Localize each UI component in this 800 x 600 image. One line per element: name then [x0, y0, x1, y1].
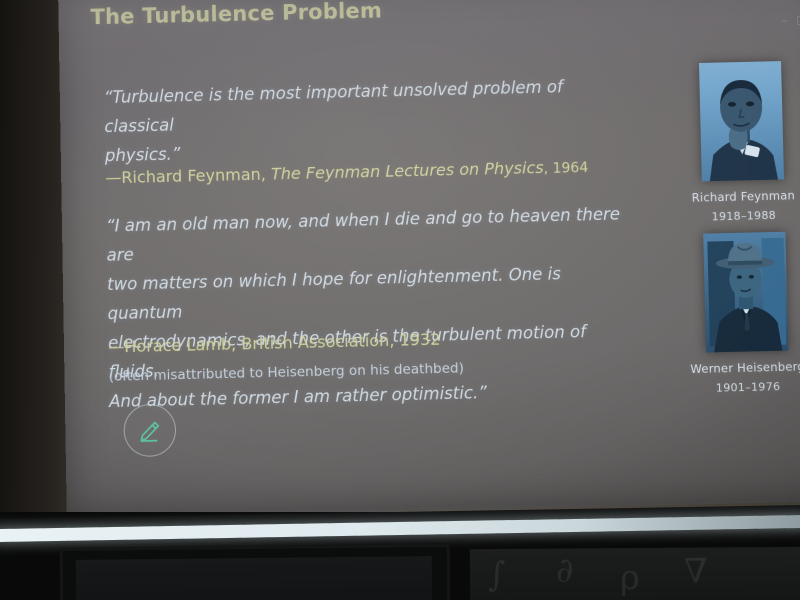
projection-screen: The Turbulence Problem “Turbulence is th… [58, 0, 800, 519]
portrait-card-feynman: Richard Feynman 1918–1988 [660, 60, 800, 224]
chalk-smudge: ∫ [488, 555, 506, 595]
slide-content: The Turbulence Problem “Turbulence is th… [58, 0, 800, 519]
chalk-smudge: ∂ [556, 550, 574, 590]
window-pane [76, 556, 433, 600]
attribution-year: , 1964 [543, 160, 588, 177]
window-controls[interactable]: – □ × [782, 14, 800, 26]
projection-screen-wrap: The Turbulence Problem “Turbulence is th… [0, 0, 800, 520]
room-below-screen: ∫ ∂ ρ ∇ [0, 512, 800, 600]
portrait-name: Richard Feynman [663, 188, 800, 206]
blackboard: ∫ ∂ ρ ∇ [470, 547, 800, 600]
attribution-work-title: The Feynman Lectures on Physics [271, 158, 544, 184]
edit-button[interactable] [123, 403, 176, 457]
portrait-photo-feynman [699, 61, 784, 181]
portrait-card-heisenberg: Werner Heisenberg 1901–1976 [664, 231, 800, 396]
attribution-author: —Richard Feynman, [105, 164, 271, 187]
portrait-name: Werner Heisenberg [667, 359, 800, 377]
slide-title: The Turbulence Problem [90, 0, 382, 29]
portrait-photo-heisenberg [703, 232, 788, 353]
portrait-dates: 1918–1988 [663, 208, 800, 225]
projected-slide-photo: The Turbulence Problem “Turbulence is th… [0, 0, 800, 600]
chalk-smudge: ρ [620, 558, 640, 598]
minimize-icon[interactable]: – [782, 15, 788, 26]
chalk-smudge: ∇ [684, 552, 708, 592]
portrait-dates: 1901–1976 [668, 379, 800, 396]
pencil-icon [137, 417, 164, 444]
maximize-icon[interactable]: □ [796, 14, 800, 25]
